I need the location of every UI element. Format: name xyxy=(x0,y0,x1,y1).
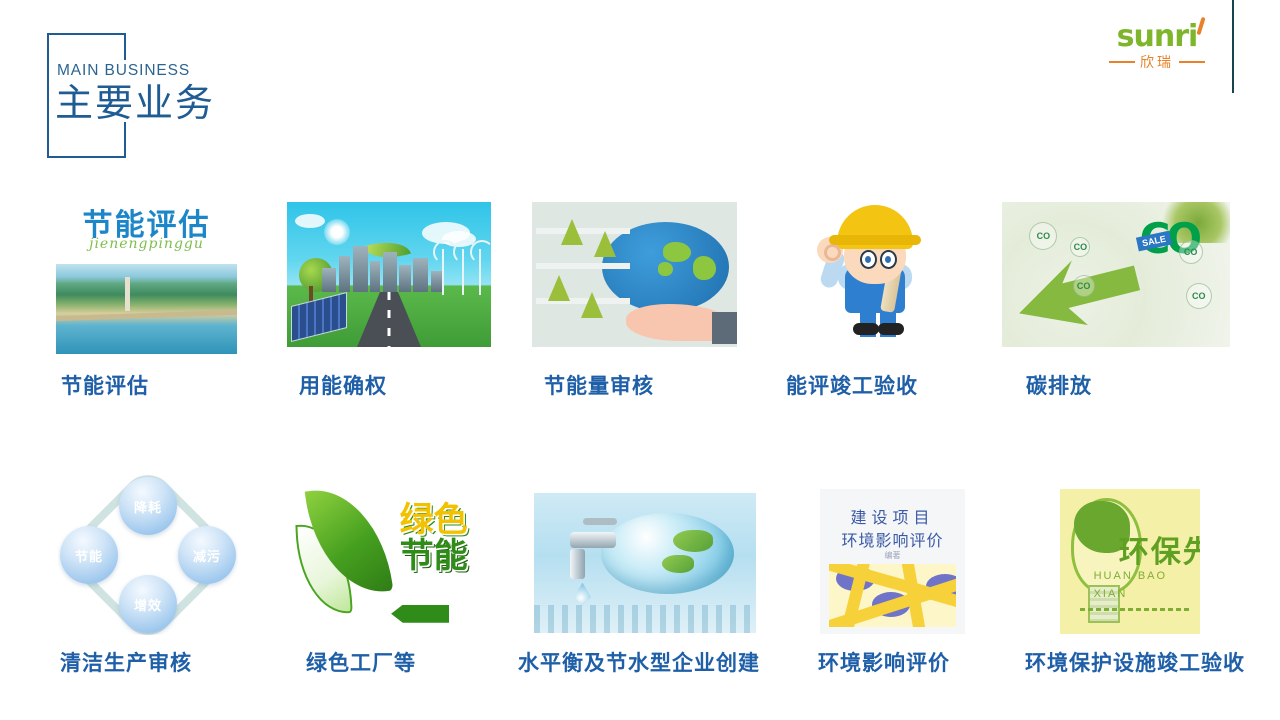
cycle-node-left: 节能 xyxy=(60,526,118,584)
cloud-icon xyxy=(295,214,325,228)
card-label: 用能确权 xyxy=(299,370,387,400)
co2-bubble: CO xyxy=(1179,240,1203,264)
card-thumbnail: CO SALE CO CO CO CO CO xyxy=(1002,202,1230,347)
tree-icon xyxy=(561,219,583,245)
cycle-node-bottom: 增效 xyxy=(119,575,177,633)
poster-pinyin-text: jienengpinggu xyxy=(48,236,245,252)
card-label: 环境保护设施竣工验收 xyxy=(1025,647,1245,677)
book-title-line1: 建设项目 xyxy=(820,504,965,528)
card-thumbnail: 环保先 HUAN BAO XIAN xyxy=(1060,489,1200,634)
business-row-2: 降耗 减污 增效 节能 清洁生产审核 绿色 节能 绿色工厂等 xyxy=(0,475,1280,690)
sleeve-cuff xyxy=(712,312,737,344)
bulb-poster-pinyin1: HUAN BAO xyxy=(1094,570,1167,582)
arrow-icon xyxy=(391,605,449,623)
tree-icon xyxy=(548,275,570,301)
skyline-group xyxy=(320,246,446,292)
card-thumbnail xyxy=(800,192,950,352)
page-title: 主要业务 xyxy=(55,82,215,126)
faucet-spout xyxy=(570,549,585,579)
road-graphic xyxy=(357,292,421,347)
card-label: 水平衡及节水型企业创建 xyxy=(518,647,760,677)
slide-header: MAIN BUSINESS 主要业务 sunri 欣瑞 xyxy=(0,0,1280,175)
book-title-line2: 环境影响评价 xyxy=(820,527,965,551)
card-label: 能评竣工验收 xyxy=(786,370,918,400)
water-drop-icon xyxy=(574,583,591,606)
wind-turbine-icon xyxy=(462,249,464,295)
wind-turbine-icon xyxy=(442,249,444,295)
card-label: 节能量审核 xyxy=(544,370,654,400)
globe-icon xyxy=(601,513,734,594)
leaf-logo-line2: 节能 xyxy=(400,538,468,574)
sun-icon xyxy=(324,219,350,245)
cycle-node-right: 减污 xyxy=(178,526,236,584)
solar-panel-icon xyxy=(291,292,347,342)
book-cover: 建设项目 环境影响评价 编著 xyxy=(820,489,965,634)
bulb-poster-pinyin2: XIAN xyxy=(1094,588,1128,600)
bulb-poster-title: 环保先 xyxy=(1119,527,1200,571)
logo-divider-line xyxy=(1232,0,1234,93)
tree-icon xyxy=(594,231,616,257)
card-label: 碳排放 xyxy=(1026,370,1092,400)
card-thumbnail: 降耗 减污 增效 节能 xyxy=(58,475,238,635)
cycle-node-top: 降耗 xyxy=(119,477,177,535)
green-energy-logo: 绿色 节能 xyxy=(290,477,475,632)
card-thumbnail: 节能评估 jienengpinggu xyxy=(48,190,245,360)
faucet-icon xyxy=(570,532,616,548)
card-thumbnail xyxy=(532,202,737,347)
wind-turbine-icon xyxy=(479,249,481,295)
worker-mascot-icon xyxy=(800,192,950,352)
card-thumbnail xyxy=(287,202,491,347)
city-silhouette xyxy=(534,605,756,633)
eco-bulb-poster: 环保先 HUAN BAO XIAN xyxy=(1060,489,1200,634)
cycle-diagram: 降耗 减污 增效 节能 xyxy=(58,475,238,635)
tree-icon xyxy=(581,292,603,318)
co2-bubble: CO xyxy=(1070,237,1090,257)
book-byline: 编著 xyxy=(820,550,965,561)
card-thumbnail xyxy=(534,493,756,633)
business-row-1: 节能评估 jienengpinggu 节能评估 xyxy=(0,190,1280,400)
page-subtitle-english: MAIN BUSINESS xyxy=(57,62,190,80)
card-label: 环境影响评价 xyxy=(818,647,950,677)
co2-bubble: CO xyxy=(1029,222,1057,250)
poster-photo xyxy=(56,264,237,354)
co2-bubble: CO xyxy=(1073,275,1095,297)
card-label: 清洁生产审核 xyxy=(60,647,192,677)
co2-bubble: CO xyxy=(1186,283,1212,309)
logo-chinese-name: 欣瑞 xyxy=(1140,52,1174,72)
card-thumbnail: 绿色 节能 xyxy=(290,477,475,632)
logo-subtitle: 欣瑞 xyxy=(1097,53,1217,71)
card-label: 绿色工厂等 xyxy=(306,647,416,677)
logo-rule-left xyxy=(1109,61,1135,63)
card-label: 节能评估 xyxy=(61,370,149,400)
leaf-logo-line1: 绿色 xyxy=(400,502,468,538)
card-thumbnail: 建设项目 环境影响评价 编著 xyxy=(820,489,965,634)
faucet-handle xyxy=(583,518,617,525)
logo-rule-right xyxy=(1179,61,1205,63)
company-logo: sunri 欣瑞 xyxy=(1097,22,1217,77)
